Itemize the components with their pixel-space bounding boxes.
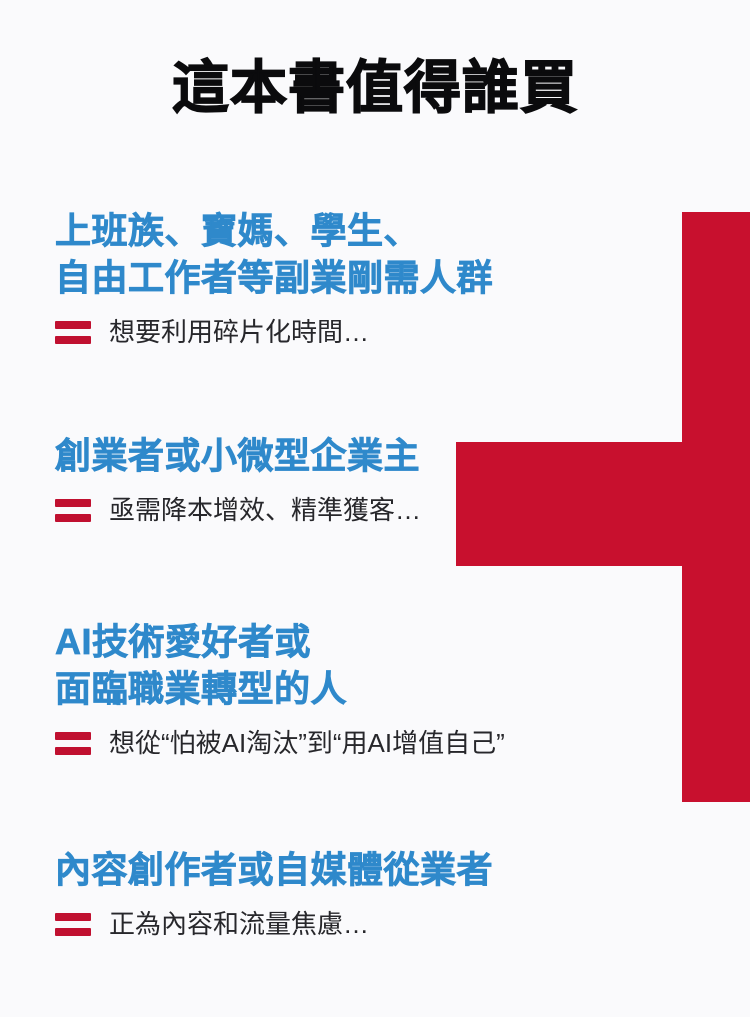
audience-heading-1: 上班族、寶媽、學生、 自由工作者等副業剛需人群 <box>55 207 745 301</box>
audience-heading-3: AI技術愛好者或 面臨職業轉型的人 <box>55 618 745 712</box>
audience-bullet-4: 正為內容和流量焦慮… <box>55 907 745 941</box>
equals-bullet-icon <box>55 732 91 755</box>
equals-bullet-icon <box>55 913 91 936</box>
audience-section-4: 內容創作者或自媒體從業者 正為內容和流量焦慮… <box>55 846 745 941</box>
audience-bullet-text-2: 亟需降本增效、精準獲客… <box>109 493 421 527</box>
audience-bullet-2: 亟需降本增效、精準獲客… <box>55 493 745 527</box>
audience-bullet-3: 想從“怕被AI淘汰”到“用AI增值自己” <box>55 726 745 760</box>
audience-bullet-text-3: 想從“怕被AI淘汰”到“用AI增值自己” <box>109 726 505 760</box>
equals-bullet-icon <box>55 321 91 344</box>
page-title: 這本書值得誰買 <box>0 52 750 124</box>
audience-bullet-text-1: 想要利用碎片化時間… <box>109 315 369 349</box>
audience-section-2: 創業者或小微型企業主 亟需降本增效、精準獲客… <box>55 432 745 527</box>
audience-bullet-1: 想要利用碎片化時間… <box>55 315 745 349</box>
poster-canvas: 這本書值得誰買 上班族、寶媽、學生、 自由工作者等副業剛需人群 想要利用碎片化時… <box>0 0 750 1017</box>
audience-bullet-text-4: 正為內容和流量焦慮… <box>109 907 369 941</box>
audience-heading-2: 創業者或小微型企業主 <box>55 432 745 479</box>
audience-section-3: AI技術愛好者或 面臨職業轉型的人 想從“怕被AI淘汰”到“用AI增值自己” <box>55 618 745 760</box>
equals-bullet-icon <box>55 499 91 522</box>
audience-heading-4: 內容創作者或自媒體從業者 <box>55 846 745 893</box>
audience-section-1: 上班族、寶媽、學生、 自由工作者等副業剛需人群 想要利用碎片化時間… <box>55 207 745 349</box>
